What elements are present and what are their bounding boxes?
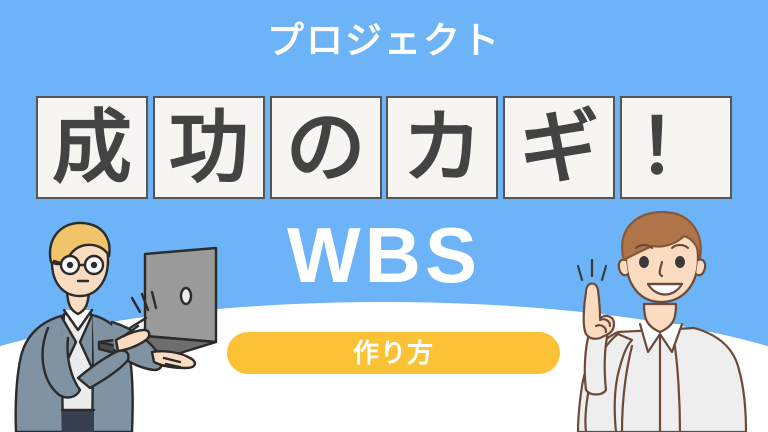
method-badge: 作り方 (227, 332, 560, 374)
headline-box-row: 成 功 の カ ギ ！ (36, 96, 732, 199)
illustration-man-with-laptop (4, 218, 220, 432)
headline-char-box: 功 (153, 96, 265, 199)
headline-char-box: ギ (503, 96, 615, 199)
method-badge-label: 作り方 (353, 340, 434, 366)
kicker-text: プロジェクト (0, 21, 768, 62)
headline-char-box: ！ (620, 96, 732, 199)
illustration-man-pointing-up (556, 206, 768, 432)
headline-char-box: カ (386, 96, 498, 199)
headline-char-box: の (270, 96, 382, 199)
headline-char-box: 成 (36, 96, 148, 199)
banner-canvas: プロジェクト 成 功 の カ ギ ！ WBS 作り方 (0, 0, 768, 432)
